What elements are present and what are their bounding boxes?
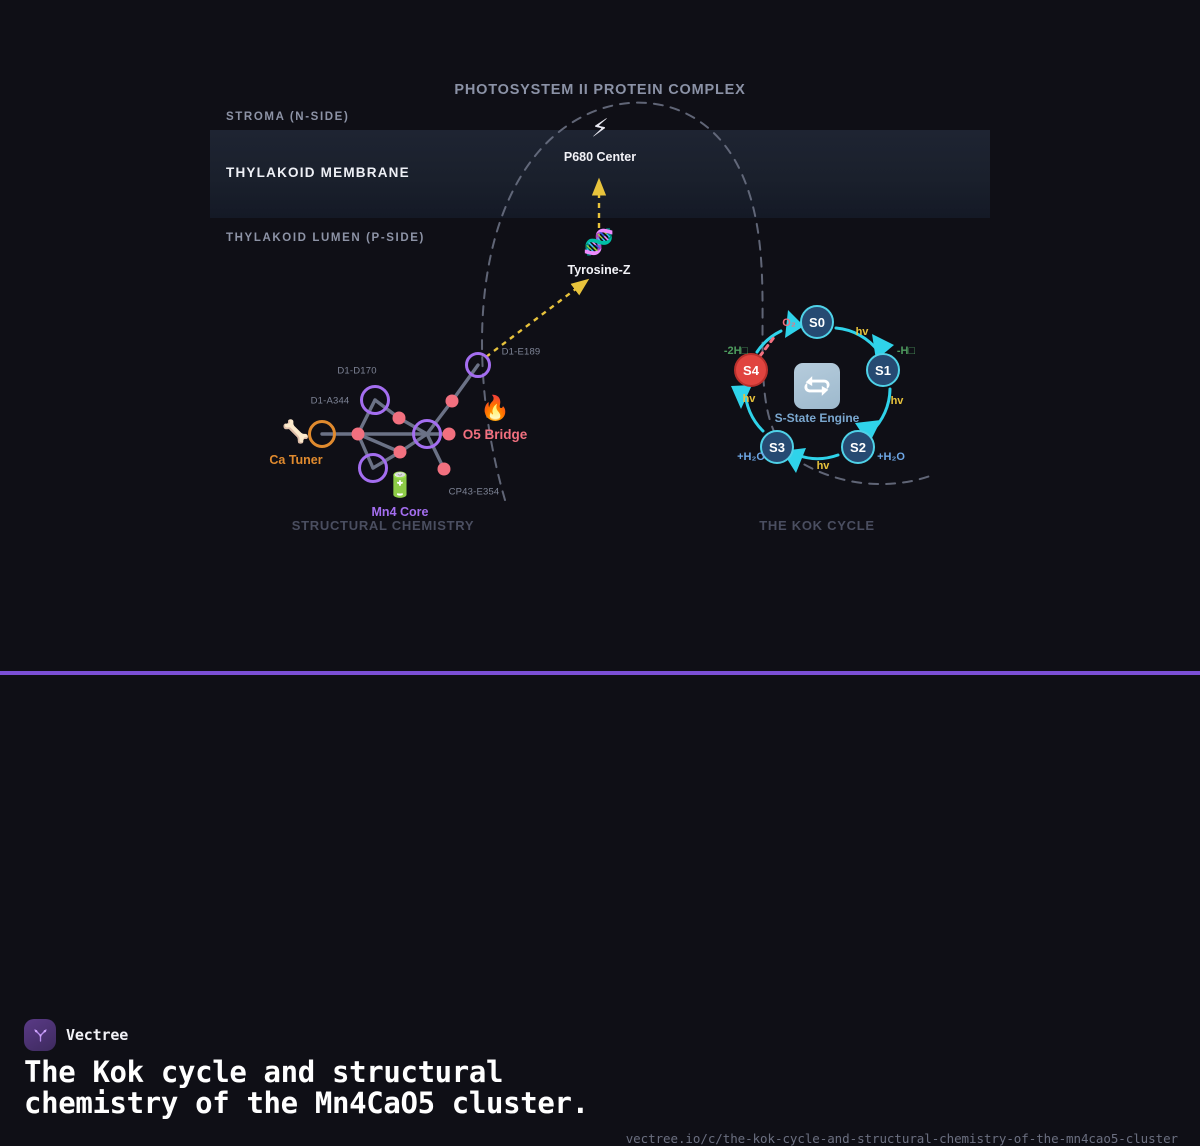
label-ca-tuner: Ca Tuner [269, 453, 322, 467]
headline: The Kok cycle and structural chemistry o… [24, 1057, 664, 1120]
fire-icon: 🔥 [480, 396, 510, 420]
photon-label-s1-s2: hv [891, 395, 904, 407]
oxygen-release-label: O₂ [782, 317, 795, 329]
dna-icon: 🧬 [583, 230, 614, 255]
node-tyrosine-z[interactable]: 🧬 [584, 227, 614, 257]
node-p680-center[interactable]: ⚡ [585, 113, 615, 143]
cycle-arrows-icon [801, 370, 833, 402]
label-p680-center: P680 Center [564, 150, 636, 164]
water-input-s3: +H₂O [737, 451, 765, 463]
photon-label-s0-s1: hv [856, 326, 869, 338]
brand-name: Vectree [66, 1026, 128, 1044]
ca-site[interactable] [308, 420, 336, 448]
diagram-canvas: STROMA (N-SIDE) THYLAKOID MEMBRANE THYLA… [0, 0, 1200, 675]
mn-site-d1-e189[interactable] [465, 352, 491, 378]
node-o5-bridge[interactable]: 🔥 [480, 393, 510, 423]
residue-label-d1-a344: D1-A344 [311, 396, 350, 407]
kok-state-s4-label: S4 [743, 363, 759, 378]
s-state-engine-tile[interactable] [794, 363, 840, 409]
kok-state-s3-label: S3 [769, 440, 785, 455]
battery-icon: 🔋 [385, 473, 415, 497]
oxygen-atom [443, 428, 456, 441]
accent-bar [0, 671, 1200, 675]
label-tyrosine-z: Tyrosine-Z [568, 263, 631, 277]
kok-state-s1[interactable]: S1 [866, 353, 900, 387]
vectree-logo-icon [24, 1019, 56, 1051]
residue-label-d1-d170: D1-D170 [337, 366, 376, 377]
kok-state-s3[interactable]: S3 [760, 430, 794, 464]
s-state-engine-label: S-State Engine [775, 411, 860, 425]
oxygen-atom [446, 395, 459, 408]
oxygen-atom [438, 463, 451, 476]
kok-state-s0-label: S0 [809, 315, 825, 330]
oxygen-atom [393, 412, 406, 425]
oxygen-atom [394, 446, 407, 459]
mn-site-d1-a344[interactable] [358, 453, 388, 483]
residue-label-d1-e189: D1-E189 [502, 347, 541, 358]
kok-state-s2-label: S2 [850, 440, 866, 455]
photon-label-s3-s4: hv [743, 393, 756, 405]
bone-icon: 🦴 [282, 422, 309, 444]
brand-row[interactable]: Vectree [24, 1019, 128, 1051]
node-ca-tuner[interactable]: 🦴 [281, 418, 311, 448]
photon-label-s2-s3: hv [817, 460, 830, 472]
water-input-s2: +H₂O [877, 451, 905, 463]
lightning-bolt-icon: ⚡ [591, 116, 609, 141]
residue-label-cp43-e354: CP43-E354 [449, 487, 500, 498]
page-url: vectree.io/c/the-kok-cycle-and-structura… [626, 1131, 1178, 1146]
node-mn4-core[interactable]: 🔋 [385, 470, 415, 500]
oxygen-atom [352, 428, 365, 441]
mn-site-d1-d170[interactable] [360, 385, 390, 415]
mn-site-center[interactable] [412, 419, 442, 449]
footer: Vectree The Kok cycle and structural che… [0, 507, 1200, 675]
kok-state-s4[interactable]: S4 [734, 353, 768, 387]
kok-state-s2[interactable]: S2 [841, 430, 875, 464]
proton-release-s1: -H□ [897, 345, 915, 357]
label-o5-bridge: O5 Bridge [463, 427, 528, 442]
tree-glyph-icon [31, 1026, 50, 1045]
kok-state-s1-label: S1 [875, 363, 891, 378]
kok-state-s0[interactable]: S0 [800, 305, 834, 339]
proton-release-s4: -2H□ [724, 345, 748, 357]
